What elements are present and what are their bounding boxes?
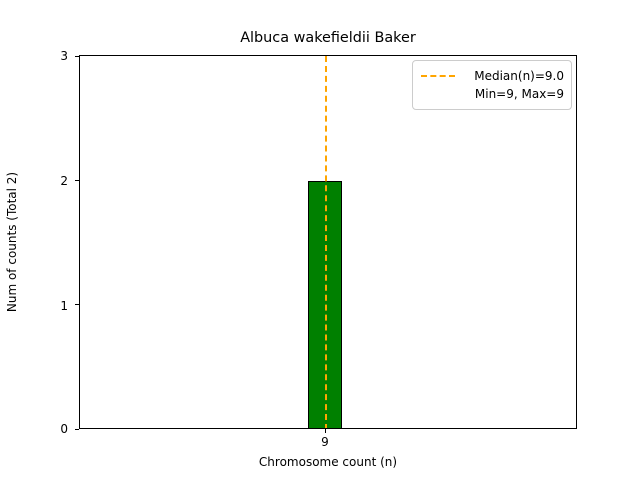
y-tick-label-0: 0 (38, 423, 68, 435)
x-tick-label-9: 9 (300, 436, 350, 448)
legend-item-minmax: Min=9, Max=9 (420, 85, 564, 103)
median-line (325, 56, 327, 428)
x-axis-label: Chromosome count (n) (79, 455, 577, 469)
dashed-line-icon (420, 67, 456, 85)
chart-title: Albuca wakefieldii Baker (79, 30, 577, 47)
y-axis-label-container: Num of counts (Total 2) (0, 55, 24, 429)
legend-label-minmax: Min=9, Max=9 (456, 87, 564, 101)
y-axis-label: Num of counts (Total 2) (5, 172, 19, 312)
legend-item-median: Median(n)=9.0 (420, 67, 564, 85)
y-tick-label-1: 1 (38, 300, 68, 312)
x-tick-mark-9 (325, 429, 326, 433)
y-tick-label-3: 3 (38, 50, 68, 62)
chart-figure: Albuca wakefieldii Baker Num of counts (… (0, 0, 640, 480)
plot-inner (80, 56, 576, 428)
legend[interactable]: Median(n)=9.0 Min=9, Max=9 (412, 60, 572, 110)
legend-label-median: Median(n)=9.0 (456, 69, 564, 83)
plot-area (79, 55, 577, 429)
y-tick-label-2: 2 (38, 175, 68, 187)
